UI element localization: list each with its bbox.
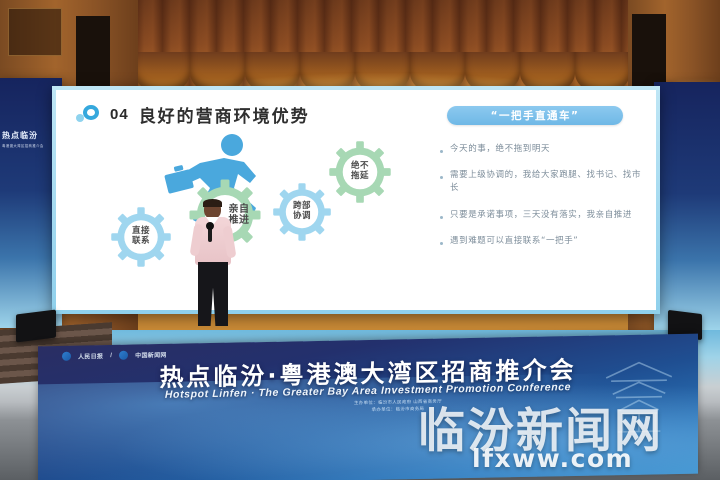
gear-3: 跨部 协调 [272,182,332,242]
projection-screen: 04 良好的营商环境优势 [52,86,660,314]
bullet-text: 今天的事，绝不拖到明天 [450,143,550,156]
speaker-hair [203,199,222,207]
side-banner-left-text: 热点临汾 粤港澳大湾区招商推介会 [2,130,44,148]
pagoda-icon [596,352,682,436]
slide-title-row: 04 良好的营商环境优势 [76,102,310,127]
microphone-head-icon [206,222,214,230]
list-item: 只要是承诺事项，三天没有落实，我亲自推进 [440,209,644,222]
conference-banner: 人民日报 / 中国新闻网 热点临汾·粤港澳大湾区招商推介会 Hotspot Li… [38,334,698,480]
wall-pane [8,8,62,56]
banner-organizers: 主办单位：临汾市人民政府 山西省商务厅 承办单位：临汾市商务局 [323,398,473,415]
stage-scene: 热点临汾 粤港澳大湾区招商推介会 04 良好的营商环境优势 [0,0,720,480]
slide-right-panel: “一把手直通车” 今天的事，绝不拖到明天 需要上级协调的，我给大家跑腿、找书记、… [426,106,644,261]
gear-4: 绝不 拖延 [328,140,392,204]
panel-header-badge: “一把手直通车” [447,106,623,125]
gear-1-label: 直接 联系 [110,206,172,268]
organizer-line-2: 承办单位：临汾市商务局 [323,405,473,415]
bullet-dot-icon [440,176,443,179]
list-item: 遇到难题可以直接联系“一把手” [440,235,644,248]
bullet-text: 只要是承诺事项，三天没有落实，我亲自推进 [450,209,632,222]
logo-separator: / [110,352,112,358]
panel-bullet-list: 今天的事，绝不拖到明天 需要上级协调的，我给大家跑腿、找书记、找市长 只要是承诺… [426,143,644,248]
presentation-slide: 04 良好的营商环境优势 [56,90,656,310]
bullet-dot-icon [440,216,443,219]
bullet-text: 遇到难题可以直接联系“一把手” [450,235,578,248]
slide-section-number: 04 [110,106,129,123]
bullet-dot-icon [440,242,443,245]
bullet-text: 需要上级协调的，我给大家跑腿、找书记、找市长 [450,169,644,195]
side-banner-left-sub: 粤港澳大湾区招商推介会 [2,143,44,148]
side-banner-right [654,82,720,330]
list-item: 今天的事，绝不拖到明天 [440,143,644,156]
slide-title: 良好的营商环境优势 [139,102,310,127]
bullet-dot-icon [440,150,443,153]
gear-4-label: 绝不 拖延 [328,140,392,204]
gear-1: 直接 联系 [110,206,172,268]
speaker-trousers [198,262,228,326]
gear-3-label: 跨部 协调 [272,182,332,242]
list-item: 需要上级协调的，我给大家跑腿、找书记、找市长 [440,169,644,195]
stage-monitor-left [16,310,56,343]
ring-dot-icon [76,105,100,125]
side-banner-left-title: 热点临汾 [2,131,38,140]
speaker-person [190,200,236,328]
